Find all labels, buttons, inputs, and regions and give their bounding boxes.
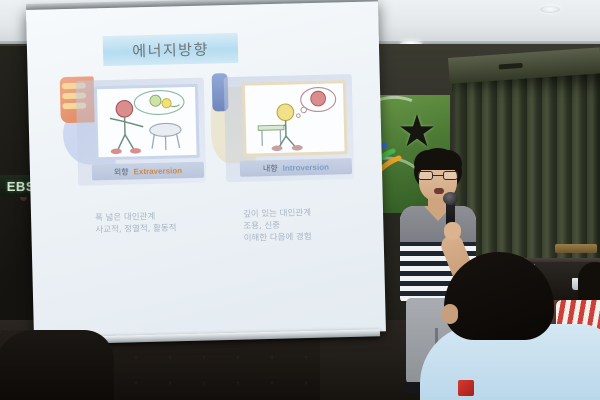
panel-introversion: 내향 Introversion bbox=[224, 74, 355, 182]
audience-front-ear bbox=[442, 304, 458, 324]
audience-front bbox=[430, 252, 600, 400]
body-text-right: 깊이 있는 대인관계 조용, 신중 이해한 다음에 경험 bbox=[243, 207, 312, 245]
body-line: 이해한 다음에 경험 bbox=[244, 231, 312, 245]
extraversion-illustration-icon bbox=[97, 87, 197, 157]
introversion-illustration-icon bbox=[245, 83, 345, 153]
panel-frame bbox=[94, 84, 200, 161]
presenter-fringe bbox=[414, 150, 462, 170]
slide-title-box: 에너지방향 bbox=[103, 33, 239, 66]
slide-body-text: 폭 넓은 대인관계 사교적, 정열적, 활동적 깊이 있는 대인관계 조용, 신… bbox=[31, 205, 384, 270]
glasses-icon bbox=[418, 171, 458, 180]
slide-content: 에너지방향 bbox=[26, 1, 386, 340]
audience-front-badge bbox=[458, 380, 474, 396]
presenter-mouth bbox=[434, 188, 444, 194]
panel-frame bbox=[242, 80, 348, 157]
panel-caption-extraversion: 외향 Extraversion bbox=[92, 162, 204, 181]
slide-panels: 외향 Extraversion bbox=[28, 71, 383, 210]
audience-left-silhouette bbox=[0, 330, 114, 400]
caption-en: Introversion bbox=[283, 162, 329, 172]
panel-extraversion: 외향 Extraversion bbox=[76, 78, 207, 186]
ceiling-downlight-icon bbox=[540, 6, 560, 13]
body-line: 사교적, 정열적, 활동적 bbox=[95, 222, 176, 236]
caption-en: Extraversion bbox=[133, 166, 182, 176]
page-title: 에너지방향 bbox=[132, 38, 209, 61]
lecture-room-photo: EBS ★ 에너지방향 bbox=[0, 0, 600, 400]
body-line: 깊이 있는 대인관계 bbox=[243, 207, 311, 221]
caption-ko: 외향 bbox=[114, 166, 129, 177]
body-text-left: 폭 넓은 대인관계 사교적, 정열적, 활동적 bbox=[95, 210, 177, 236]
microphone-head-icon bbox=[443, 192, 458, 205]
pelmet-slot bbox=[499, 63, 523, 70]
projection-screen: 에너지방향 bbox=[26, 1, 386, 340]
caption-ko: 내향 bbox=[263, 162, 278, 173]
audience-front-hair bbox=[444, 252, 554, 340]
panel-caption-introversion: 내향 Introversion bbox=[240, 158, 352, 177]
presenter-hand bbox=[444, 222, 461, 240]
